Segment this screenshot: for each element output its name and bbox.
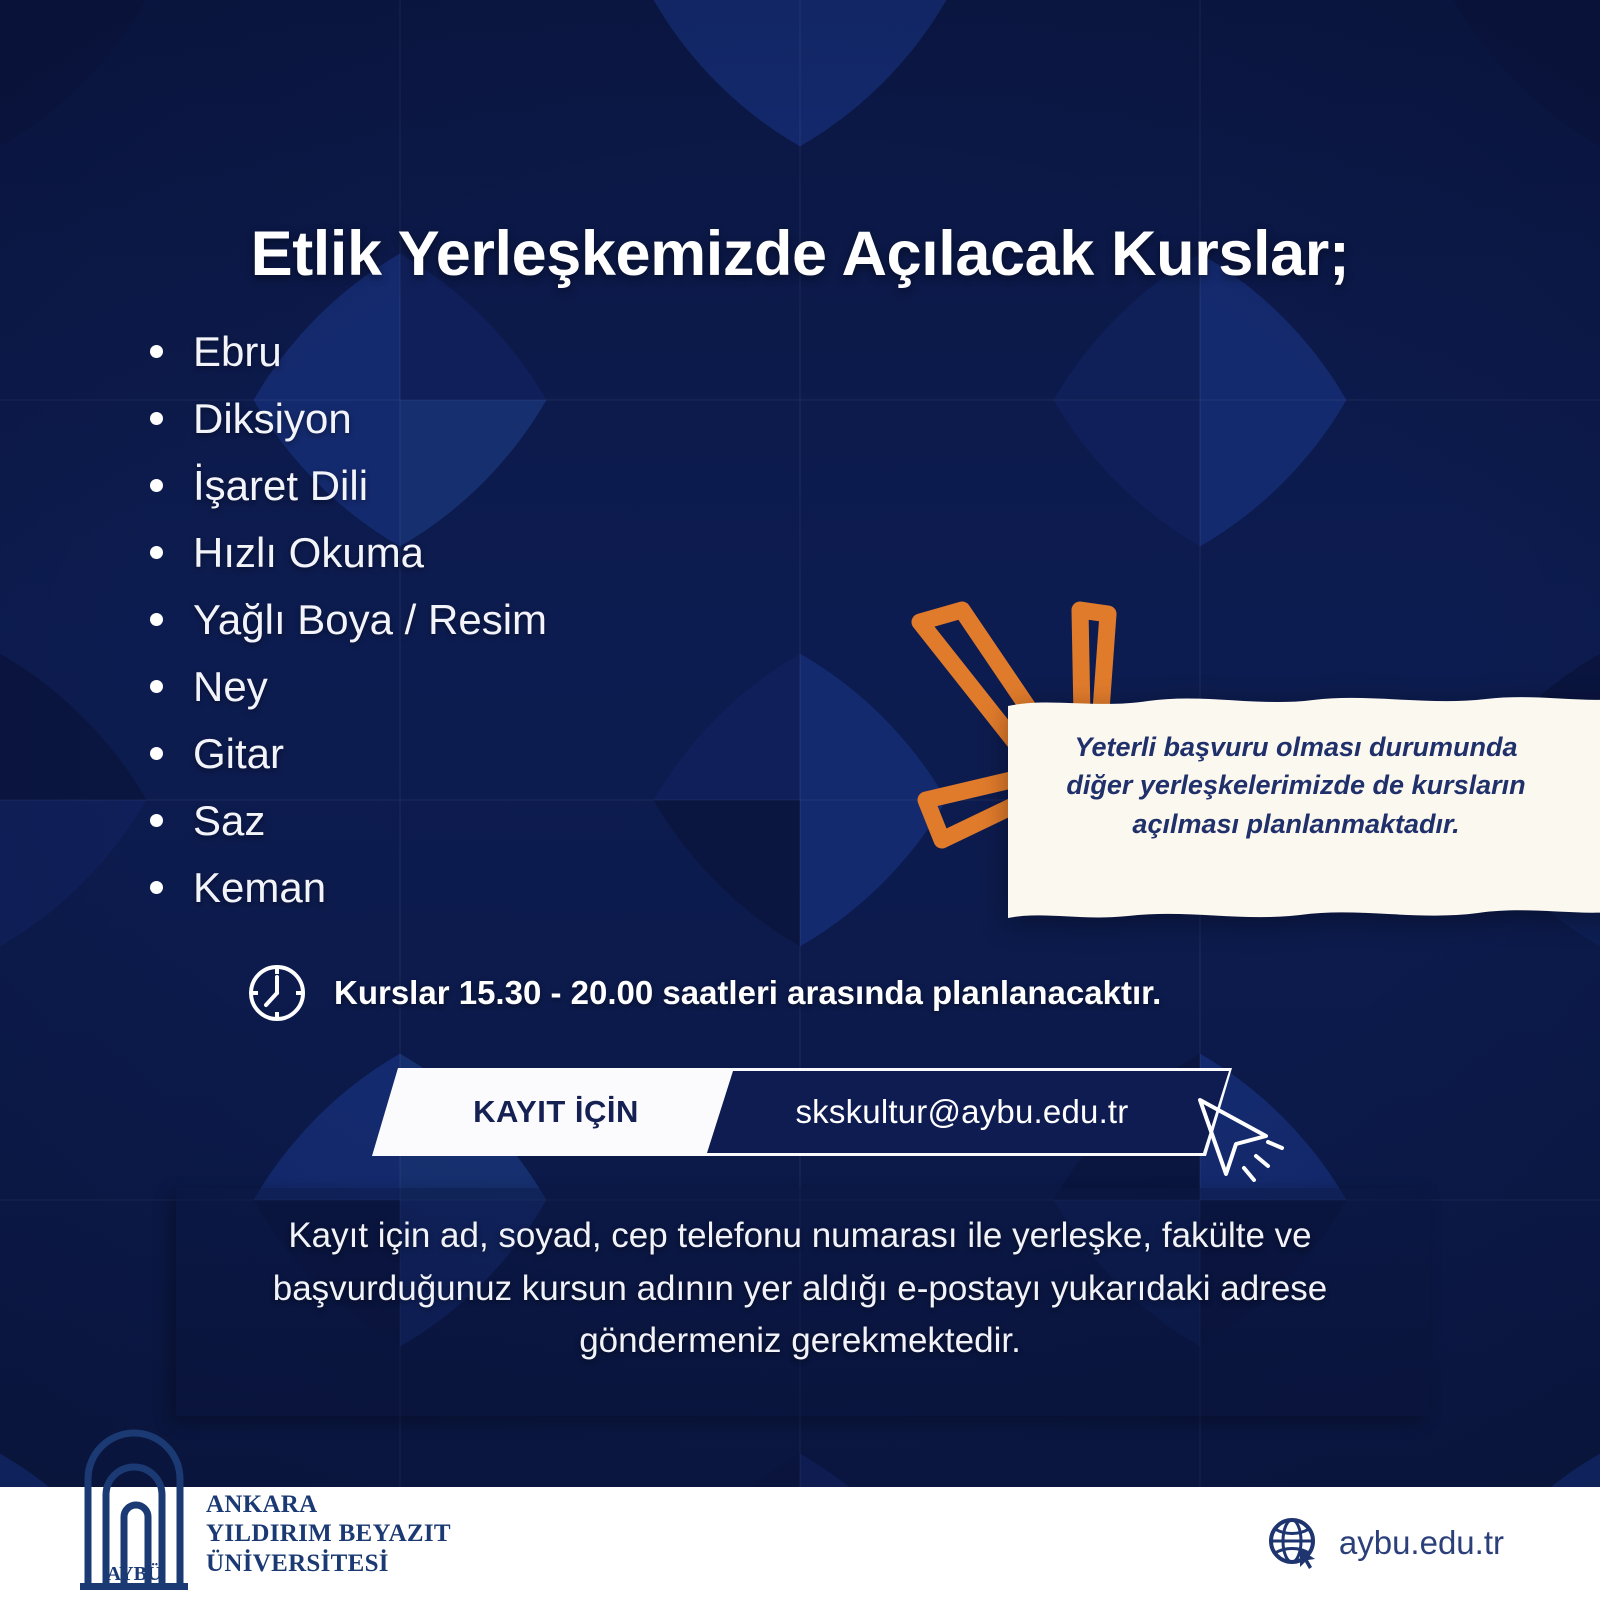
- list-item: Hızlı Okuma: [150, 519, 547, 586]
- bullet-icon: [150, 546, 163, 559]
- poster-content: Etlik Yerleşkemizde Açılacak Kurslar; Eb…: [0, 0, 1600, 1600]
- bullet-icon: [150, 345, 163, 358]
- course-label: Yağlı Boya / Resim: [193, 596, 547, 644]
- university-logo: AYBÜ ANKARA YILDIRIM BEYAZIT ÜNİVERSİTES…: [78, 1417, 451, 1592]
- course-label: İşaret Dili: [193, 462, 368, 510]
- registration-email-chip[interactable]: skskultur@aybu.edu.tr: [704, 1068, 1232, 1156]
- note-card: Yeterli başvuru olması durumunda diğer y…: [1008, 690, 1600, 922]
- note-card-text: Yeterli başvuru olması durumunda diğer y…: [1056, 728, 1536, 843]
- list-item: Saz: [150, 787, 547, 854]
- bullet-icon: [150, 680, 163, 693]
- website-url[interactable]: aybu.edu.tr: [1339, 1524, 1504, 1562]
- course-label: Keman: [193, 864, 326, 912]
- schedule-row: Kurslar 15.30 - 20.00 saatleri arasında …: [246, 962, 1161, 1024]
- course-list: Ebru Diksiyon İşaret Dili Hızlı Okuma Ya…: [150, 318, 547, 921]
- website-link[interactable]: aybu.edu.tr: [1267, 1516, 1504, 1570]
- globe-icon: [1267, 1516, 1321, 1570]
- list-item: İşaret Dili: [150, 452, 547, 519]
- svg-text:AYBÜ: AYBÜ: [107, 1562, 162, 1585]
- registration-label-chip: KAYIT İÇİN: [372, 1068, 732, 1156]
- course-label: Saz: [193, 797, 265, 845]
- university-name-line2: YILDIRIM BEYAZIT: [206, 1519, 451, 1549]
- university-name-line1: ANKARA: [206, 1490, 451, 1520]
- course-label: Ney: [193, 663, 268, 711]
- bullet-icon: [150, 479, 163, 492]
- bullet-icon: [150, 613, 163, 626]
- list-item: Ebru: [150, 318, 547, 385]
- list-item: Yağlı Boya / Resim: [150, 586, 547, 653]
- poster-root: Etlik Yerleşkemizde Açılacak Kurslar; Eb…: [0, 0, 1600, 1600]
- list-item: Diksiyon: [150, 385, 547, 452]
- schedule-text: Kurslar 15.30 - 20.00 saatleri arasında …: [334, 974, 1161, 1012]
- registration-banner[interactable]: KAYIT İÇİN skskultur@aybu.edu.tr: [372, 1068, 1232, 1156]
- bullet-icon: [150, 814, 163, 827]
- list-item: Gitar: [150, 720, 547, 787]
- bullet-icon: [150, 412, 163, 425]
- university-name-line3: ÜNİVERSİTESİ: [206, 1549, 451, 1579]
- aybu-arch-logo-icon: AYBÜ: [78, 1417, 190, 1592]
- university-name: ANKARA YILDIRIM BEYAZIT ÜNİVERSİTESİ: [206, 1490, 451, 1593]
- bullet-icon: [150, 881, 163, 894]
- course-label: Gitar: [193, 730, 284, 778]
- registration-label: KAYIT İÇİN: [473, 1094, 639, 1130]
- cursor-arrow-icon: [1180, 1082, 1290, 1192]
- course-label: Ebru: [193, 328, 282, 376]
- instructions-text: Kayıt için ad, soyad, cep telefonu numar…: [200, 1210, 1400, 1368]
- page-title: Etlik Yerleşkemizde Açılacak Kurslar;: [0, 218, 1600, 290]
- course-label: Hızlı Okuma: [193, 529, 424, 577]
- list-item: Ney: [150, 653, 547, 720]
- course-label: Diksiyon: [193, 395, 352, 443]
- registration-email[interactable]: skskultur@aybu.edu.tr: [698, 1068, 1226, 1156]
- list-item: Keman: [150, 854, 547, 921]
- bullet-icon: [150, 747, 163, 760]
- clock-icon: [246, 962, 308, 1024]
